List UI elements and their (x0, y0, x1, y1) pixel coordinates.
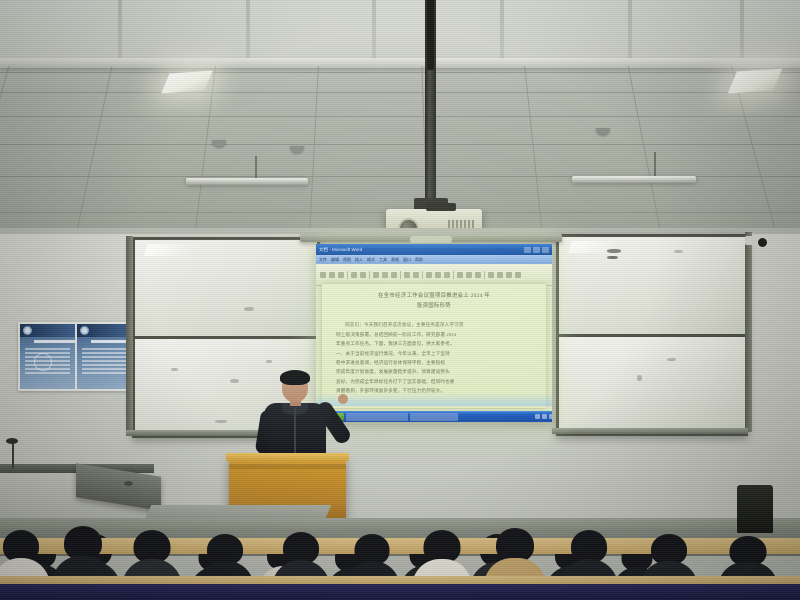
paste-icon[interactable] (391, 272, 397, 278)
cut-icon[interactable] (373, 272, 379, 278)
board-post (745, 232, 752, 432)
ceiling (0, 0, 800, 235)
taskbar-window-button[interactable] (346, 413, 408, 421)
menu-item-insert[interactable]: 插入 (355, 257, 363, 263)
open-icon[interactable] (329, 272, 335, 278)
menu-item-window[interactable]: 窗口 (403, 257, 411, 263)
presenter-pointing-hand (338, 394, 348, 404)
board-post (126, 236, 133, 436)
menu-item-tools[interactable]: 工具 (379, 257, 387, 263)
light-rod (654, 152, 656, 178)
app-toolbar[interactable] (316, 264, 552, 286)
ceiling-seam (500, 0, 504, 62)
whiteboard-panel (135, 240, 317, 336)
undo-icon[interactable] (404, 272, 410, 278)
whiteboard-right (556, 234, 748, 436)
bullet-list-icon[interactable] (488, 272, 494, 278)
print-icon[interactable] (351, 272, 357, 278)
screen-glare (316, 393, 552, 406)
close-icon (542, 247, 549, 253)
wall-poster-pair (18, 322, 134, 391)
fluorescent-tube-light (186, 178, 308, 185)
align-left-icon[interactable] (457, 272, 463, 278)
document-body-line: 同志们：今天我们召开这次会议，主要任务是深入学习贯 (336, 320, 532, 329)
wall-poster (77, 324, 132, 389)
tray-icon (535, 414, 540, 419)
presenter-hair (280, 370, 310, 385)
document-title-line-2: 投资国际形势 (336, 302, 532, 312)
podium-top-ledge (226, 453, 349, 461)
poster-text-lines (82, 348, 127, 376)
menu-item-file[interactable]: 文件 (319, 257, 327, 263)
italic-icon[interactable] (435, 272, 441, 278)
projection-screen: 文档 - Microsoft Word 文件 编辑 视图 插入 格式 工具 表格… (316, 244, 552, 422)
tray-icon (542, 414, 547, 419)
align-right-icon[interactable] (475, 272, 481, 278)
ceiling-seam (740, 0, 744, 62)
underline-icon[interactable] (444, 272, 450, 278)
minimize-icon (524, 247, 531, 253)
projector-arm (426, 203, 456, 211)
menu-item-help[interactable]: 帮助 (415, 257, 423, 263)
document-body: 同志们：今天我们召开这次会议，主要任务是深入学习贯 彻上级决策部署，总结回顾前一… (336, 320, 532, 395)
number-list-icon[interactable] (497, 272, 503, 278)
ceiling-seam (372, 0, 376, 62)
document-body-line: 年重点工作任务。下面，我讲三方面意见，供大家参考。 (336, 339, 532, 348)
menu-item-edit[interactable]: 编辑 (331, 257, 339, 263)
os-taskbar[interactable] (316, 411, 552, 422)
redo-icon[interactable] (413, 272, 419, 278)
presenter-jacket-zip (294, 408, 296, 458)
whiteboard-panel (559, 337, 745, 434)
copy-icon[interactable] (382, 272, 388, 278)
document-title-line-1: 在全市经济工作会议暨项目推进会上 2024 年 (336, 292, 532, 302)
new-doc-icon[interactable] (320, 272, 326, 278)
lecture-hall-photo: 文档 - Microsoft Word 文件 编辑 视图 插入 格式 工具 表格… (0, 0, 800, 600)
bold-icon[interactable] (426, 272, 432, 278)
security-camera-icon (758, 238, 767, 247)
help-icon[interactable] (515, 272, 521, 278)
console-knob[interactable] (124, 481, 133, 486)
document-body-line: 彻上级决策部署，总结回顾前一阶段工作，研究部署 2024 (336, 330, 532, 339)
whiteboard-panel (559, 237, 745, 334)
app-menu-bar[interactable]: 文件 编辑 视图 插入 格式 工具 表格 窗口 帮助 (316, 255, 552, 264)
poster-seal-icon (34, 353, 52, 371)
board-rail (552, 428, 748, 434)
fluorescent-tube-light (572, 176, 696, 183)
menu-item-table[interactable]: 表格 (391, 257, 399, 263)
document-body-line: 完成年度计划进度，发展质量稳步提升，项目建设势头 (336, 367, 532, 376)
ceiling-seam (246, 0, 250, 62)
app-title-text: 文档 - Microsoft Word (319, 247, 362, 253)
microphone-icon (6, 438, 18, 444)
wall-poster (20, 324, 75, 389)
ceiling-seam (628, 0, 632, 62)
window-controls[interactable] (524, 247, 549, 253)
tray-icon (549, 414, 552, 419)
projector-mount-pole-upper (427, 0, 434, 70)
menu-item-format[interactable]: 格式 (367, 257, 375, 263)
zoom-icon[interactable] (506, 272, 512, 278)
light-rod (255, 156, 257, 180)
document-body-line: 稳中求进总基调，经济运行总体保持平稳，主要指标 (336, 358, 532, 367)
screen-roller-knob (410, 236, 452, 243)
poster-logo-icon (80, 326, 89, 335)
document-body-line: 一、关于当前经济运行情况。今年以来，全市上下坚持 (336, 349, 532, 358)
wall-camera-mount (745, 236, 757, 245)
system-tray[interactable] (535, 414, 552, 419)
preview-icon[interactable] (360, 272, 366, 278)
poster-logo-icon (23, 326, 32, 335)
ceiling-seam (118, 0, 122, 62)
app-title-bar: 文档 - Microsoft Word (316, 244, 552, 255)
maximize-icon (533, 247, 540, 253)
taskbar-window-button[interactable] (410, 413, 458, 421)
document-body-line: 良好，为完成全年目标任务打下了坚实基础。但同时也要 (336, 377, 532, 386)
trash-bin (737, 485, 773, 533)
microphone-stand (12, 442, 14, 468)
menu-item-view[interactable]: 视图 (343, 257, 351, 263)
document-page[interactable]: 在全市经济工作会议暨项目推进会上 2024 年 投资国际形势 同志们：今天我们召… (322, 284, 546, 408)
save-icon[interactable] (338, 272, 344, 278)
audience-desk-front-panel (0, 584, 800, 600)
align-center-icon[interactable] (466, 272, 472, 278)
poster-title-bar (34, 340, 75, 343)
